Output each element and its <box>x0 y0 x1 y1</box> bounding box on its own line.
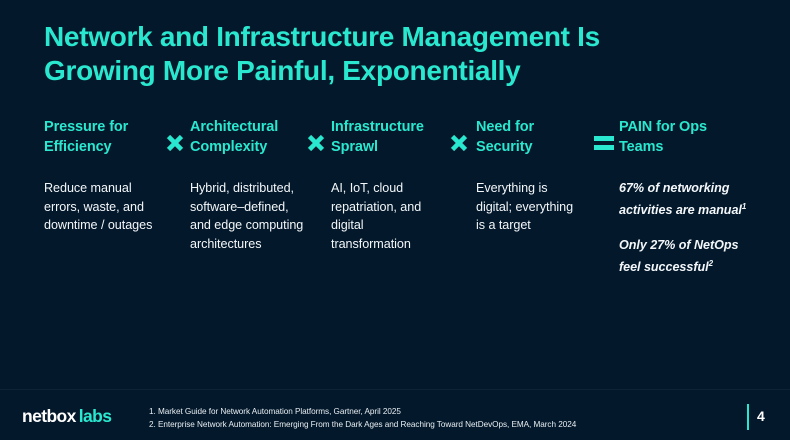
pillar-paragraph: Reduce manual errors, waste, and downtim… <box>44 179 162 235</box>
page-title: Network and Infrastructure Management Is… <box>44 20 684 88</box>
pillar-heading: Infrastructure Sprawl <box>331 118 443 157</box>
page-title-line-2: Growing More Painful, Exponentially <box>44 54 684 88</box>
pillar-stat-text: Only 27% of NetOps feel successful <box>619 238 738 274</box>
pillar-heading: Need for Security <box>476 118 584 157</box>
footnote-marker: 2 <box>709 259 713 268</box>
pillar-heading: Architectural Complexity <box>190 118 308 157</box>
logo-primary-text: netbox <box>22 406 76 426</box>
pillar-paragraph: Everything is digital; everything is a t… <box>476 179 584 235</box>
footnote-references: 1. Market Guide for Network Automation P… <box>149 406 576 431</box>
page-number-divider <box>747 404 749 430</box>
pillar-paragraph: AI, IoT, cloud repatriation, and digital… <box>331 179 443 253</box>
footnote-reference-2: 2. Enterprise Network Automation: Emergi… <box>149 419 576 432</box>
footnote-reference-1: 1. Market Guide for Network Automation P… <box>149 406 576 419</box>
pillar-paragraph: Hybrid, distributed, software–defined, a… <box>190 179 308 253</box>
pillar-body: Reduce manual errors, waste, and downtim… <box>44 179 162 235</box>
footer-divider <box>0 389 790 390</box>
logo-secondary-text: labs <box>79 406 112 426</box>
pillar-paragraph: Only 27% of NetOps feel successful2 <box>619 236 747 276</box>
pillar-body: Everything is digital; everything is a t… <box>476 179 584 235</box>
pillar-body: 67% of networking activities are manual1… <box>619 179 747 276</box>
pillar-body: Hybrid, distributed, software–defined, a… <box>190 179 308 253</box>
footnote-marker: 1 <box>742 202 746 211</box>
pillar-stat-text: 67% of networking activities are manual <box>619 181 742 217</box>
pillar-column-pressure-for-efficiency: Pressure for Efficiency Reduce manual er… <box>44 118 162 235</box>
page-title-line-1: Network and Infrastructure Management Is <box>44 20 684 54</box>
netbox-labs-logo: netboxlabs <box>22 406 111 427</box>
pillar-column-infrastructure-sprawl: Infrastructure Sprawl AI, IoT, cloud rep… <box>331 118 443 253</box>
pillar-column-need-for-security: Need for Security Everything is digital;… <box>476 118 584 235</box>
pillar-column-pain-for-ops-teams: PAIN for Ops Teams 67% of networking act… <box>619 118 747 276</box>
pillar-columns: Pressure for Efficiency Reduce manual er… <box>0 118 790 358</box>
pillar-body: AI, IoT, cloud repatriation, and digital… <box>331 179 443 253</box>
pillar-paragraph: 67% of networking activities are manual1 <box>619 179 747 219</box>
slide-canvas: Network and Infrastructure Management Is… <box>0 0 790 440</box>
pillar-column-architectural-complexity: Architectural Complexity Hybrid, distrib… <box>190 118 308 253</box>
pillar-heading: PAIN for Ops Teams <box>619 118 747 157</box>
page-number: 4 <box>757 408 765 424</box>
pillar-heading: Pressure for Efficiency <box>44 118 162 157</box>
